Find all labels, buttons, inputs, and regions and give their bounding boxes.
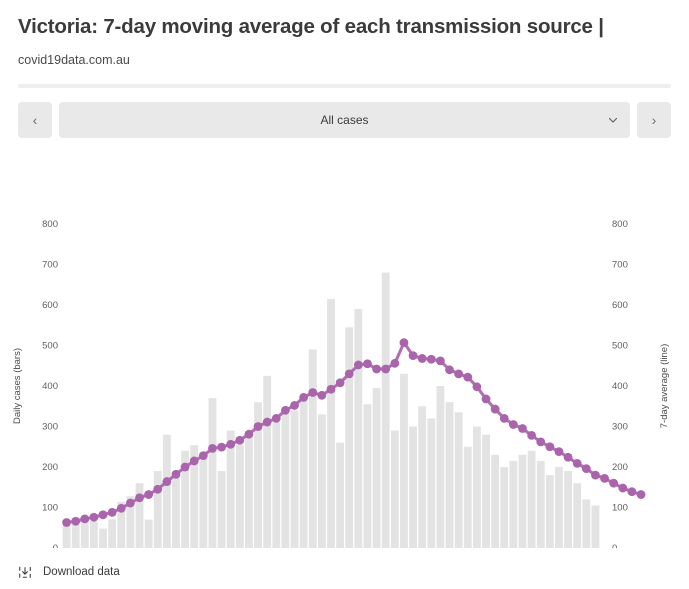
bar[interactable] [500, 467, 508, 548]
line-marker[interactable] [263, 417, 272, 426]
y-axis-tick-left: 500 [42, 340, 58, 351]
bar[interactable] [272, 422, 280, 548]
line-marker[interactable] [518, 424, 527, 433]
line-marker[interactable] [153, 484, 162, 493]
line-marker[interactable] [299, 393, 308, 402]
line-marker[interactable] [555, 447, 564, 456]
chart-page: Victoria: 7-day moving average of each t… [0, 0, 689, 589]
line-marker[interactable] [600, 474, 609, 483]
bar[interactable] [218, 471, 226, 548]
bar[interactable] [437, 386, 445, 548]
y-axis-tick-right: 500 [612, 340, 628, 351]
line-marker[interactable] [226, 440, 235, 449]
bar[interactable] [281, 412, 289, 548]
y-axis-tick-right: 300 [612, 421, 628, 432]
bar[interactable] [318, 414, 326, 548]
line-marker[interactable] [71, 516, 80, 525]
line-marker[interactable] [436, 356, 445, 365]
line-marker[interactable] [445, 365, 454, 374]
line-marker[interactable] [99, 510, 108, 519]
prev-series-button[interactable]: ‹ [18, 102, 52, 138]
line-marker[interactable] [618, 483, 627, 492]
line-marker[interactable] [272, 414, 281, 423]
line-marker[interactable] [172, 470, 181, 479]
line-marker[interactable] [162, 477, 171, 486]
bar[interactable] [455, 412, 463, 548]
bar[interactable] [564, 471, 572, 548]
bar[interactable] [199, 459, 207, 548]
line-marker[interactable] [509, 420, 518, 429]
line-marker[interactable] [482, 394, 491, 403]
line-marker[interactable] [308, 388, 317, 397]
download-data-link[interactable]: Download data [43, 566, 120, 578]
chevron-down-icon [608, 115, 618, 125]
y-axis-tick-right: 700 [612, 259, 628, 270]
bar[interactable] [345, 327, 353, 548]
page-title: Victoria: 7-day moving average of each t… [18, 14, 671, 40]
bar[interactable] [546, 475, 554, 548]
line-marker[interactable] [400, 338, 409, 347]
series-selector-row: ‹ All cases › [0, 88, 689, 138]
bar[interactable] [336, 442, 344, 547]
bar[interactable] [327, 299, 335, 548]
bar[interactable] [172, 475, 180, 548]
bar[interactable] [482, 434, 490, 547]
line-marker[interactable] [609, 478, 618, 487]
bar[interactable] [491, 454, 499, 547]
line-marker[interactable] [582, 464, 591, 473]
bar[interactable] [427, 418, 435, 548]
covid-cases-chart: 0010010020020030030040040050050060060070… [0, 148, 689, 548]
bar[interactable] [63, 525, 71, 548]
y-axis-tick-left: 800 [42, 219, 58, 230]
bar[interactable] [154, 471, 162, 548]
bar[interactable] [245, 434, 253, 547]
bar[interactable] [391, 430, 399, 547]
line-marker[interactable] [628, 487, 637, 496]
bar[interactable] [382, 272, 390, 547]
line-marker[interactable] [545, 442, 554, 451]
line-marker[interactable] [190, 456, 199, 465]
line-marker[interactable] [80, 514, 89, 523]
y-axis-tick-left: 200 [42, 462, 58, 473]
line-marker[interactable] [327, 384, 336, 393]
line-marker[interactable] [473, 382, 482, 391]
line-marker[interactable] [573, 459, 582, 468]
bar[interactable] [291, 410, 299, 548]
bar[interactable] [519, 454, 527, 547]
line-marker[interactable] [90, 512, 99, 521]
line-marker[interactable] [418, 354, 427, 363]
line-marker[interactable] [208, 444, 217, 453]
bar[interactable] [509, 461, 517, 548]
bar[interactable] [373, 388, 381, 548]
bar[interactable] [309, 349, 317, 547]
bar[interactable] [136, 483, 144, 548]
line-marker[interactable] [245, 429, 254, 438]
bar[interactable] [108, 519, 116, 548]
line-marker[interactable] [135, 493, 144, 502]
bar[interactable] [99, 528, 107, 547]
line-marker[interactable] [281, 406, 290, 415]
y-axis-tick-right: 200 [612, 462, 628, 473]
bar[interactable] [163, 434, 171, 547]
line-marker[interactable] [390, 359, 399, 368]
bar[interactable] [90, 521, 98, 548]
y-axis-tick-left: 600 [42, 300, 58, 311]
line-marker[interactable] [372, 364, 381, 373]
y-axis-tick-left: 0 [53, 543, 58, 548]
y-axis-tick-right: 400 [612, 381, 628, 392]
line-marker[interactable] [317, 391, 326, 400]
bar[interactable] [582, 499, 590, 548]
bar[interactable] [555, 467, 563, 548]
line-marker[interactable] [491, 404, 500, 413]
y-axis-title-left: Daily cases (bars) [12, 348, 23, 424]
y-axis-title-right: 7-day average (line) [659, 343, 670, 428]
y-axis-tick-left: 700 [42, 259, 58, 270]
line-marker[interactable] [108, 508, 117, 517]
y-axis-tick-left: 400 [42, 381, 58, 392]
page-subtitle: covid19data.com.au [18, 53, 671, 67]
line-marker[interactable] [463, 372, 472, 381]
line-marker[interactable] [564, 453, 573, 462]
bar[interactable] [145, 519, 153, 547]
bar[interactable] [300, 398, 308, 548]
y-axis-tick-left: 100 [42, 502, 58, 513]
line-marker[interactable] [235, 435, 244, 444]
chart-header: Victoria: 7-day moving average of each t… [0, 0, 689, 67]
bar[interactable] [537, 461, 545, 548]
line-marker[interactable] [144, 490, 153, 499]
line-marker[interactable] [500, 414, 509, 423]
bar[interactable] [400, 373, 408, 547]
chart-footer: Download data [0, 565, 689, 579]
bar[interactable] [446, 402, 454, 548]
line-marker[interactable] [217, 442, 226, 451]
chart-area: 0010010020020030030040040050050060060070… [0, 148, 689, 548]
line-marker[interactable] [126, 498, 135, 507]
line-marker[interactable] [363, 359, 372, 368]
y-axis-tick-right: 800 [612, 219, 628, 230]
line-marker[interactable] [62, 518, 71, 527]
line-marker[interactable] [345, 369, 354, 378]
bar[interactable] [592, 505, 600, 548]
bar[interactable] [473, 426, 481, 548]
y-axis-tick-left: 300 [42, 421, 58, 432]
line-marker[interactable] [336, 378, 345, 387]
bar[interactable] [364, 404, 372, 548]
bar-series [63, 272, 600, 547]
series-select[interactable]: All cases [59, 102, 630, 138]
line-marker[interactable] [381, 364, 390, 373]
bar[interactable] [236, 444, 244, 547]
line-marker[interactable] [290, 401, 299, 410]
bar[interactable] [354, 309, 362, 548]
next-series-button[interactable]: › [637, 102, 671, 138]
line-marker[interactable] [254, 422, 263, 431]
download-icon[interactable] [18, 565, 32, 579]
line-marker[interactable] [117, 504, 126, 513]
line-marker[interactable] [409, 351, 418, 360]
bar[interactable] [263, 376, 271, 548]
line-marker[interactable] [181, 462, 190, 471]
bar[interactable] [528, 450, 536, 547]
bar[interactable] [409, 426, 417, 548]
y-axis-tick-right: 0 [612, 543, 617, 548]
line-marker[interactable] [454, 369, 463, 378]
bar[interactable] [209, 398, 217, 548]
line-marker[interactable] [527, 431, 536, 440]
line-marker[interactable] [536, 437, 545, 446]
bar[interactable] [72, 524, 80, 547]
bar[interactable] [464, 446, 472, 547]
bar[interactable] [573, 483, 581, 548]
line-marker[interactable] [637, 490, 646, 499]
y-axis-tick-right: 600 [612, 300, 628, 311]
line-marker[interactable] [591, 470, 600, 479]
line-marker[interactable] [199, 451, 208, 460]
line-marker[interactable] [427, 354, 436, 363]
y-axis-tick-right: 100 [612, 502, 628, 513]
series-select-value: All cases [320, 113, 368, 127]
line-marker[interactable] [354, 360, 363, 369]
bar[interactable] [418, 406, 426, 548]
